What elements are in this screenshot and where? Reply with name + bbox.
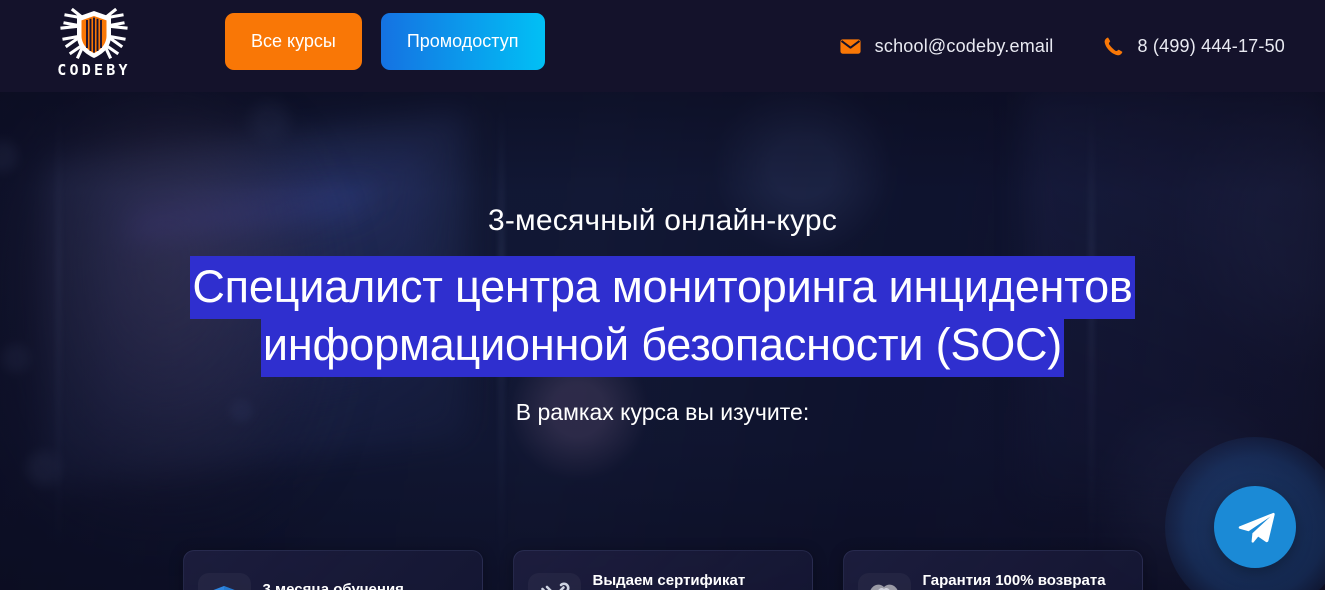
feature-card-text: 3 месяца обучения с видеоуроками и задан… (263, 580, 467, 590)
hero-section: 3-месячный онлайн-курс Специалист центра… (0, 92, 1325, 590)
money-with-wings-icon: $ (858, 573, 911, 590)
spider-shield-logo-icon (59, 6, 129, 62)
hero-content: 3-месячный онлайн-курс Специалист центра… (0, 92, 1325, 590)
hero-subhead: В рамках курса вы изучите: (516, 399, 809, 426)
feature-cards: 3 месяца обучения с видеоуроками и задан… (0, 550, 1325, 590)
feature-card-title: Выдаем сертификат (593, 571, 798, 590)
phone-text: 8 (499) 444-17-50 (1138, 36, 1286, 57)
feature-card-text: Гарантия 100% возврата средств в первые … (923, 571, 1128, 590)
telegram-paper-plane-icon (1236, 510, 1276, 544)
email-text: school@codeby.email (875, 36, 1054, 57)
headline-line-2: информационной безопасности (SOC) (261, 314, 1064, 377)
site-header: CODEBY Все курсы Промодоступ school@code… (0, 0, 1325, 92)
feature-card-title: 3 месяца обучения (263, 580, 467, 590)
headline-line-1: Специалист центра мониторинга инцидентов (190, 256, 1134, 319)
envelope-icon (839, 35, 862, 58)
telegram-chat-button[interactable] (1214, 486, 1296, 568)
header-contacts: school@codeby.email 8 (499) 444-17-50 (839, 0, 1285, 92)
feature-card: 3 месяца обучения с видеоуроками и задан… (183, 550, 483, 590)
page-title: Специалист центра мониторинга инцидентов… (83, 258, 1243, 374)
phone-contact[interactable]: 8 (499) 444-17-50 (1102, 35, 1286, 58)
all-courses-button[interactable]: Все курсы (225, 13, 362, 70)
telegram-fab-wrapper (1165, 437, 1325, 590)
header-nav-buttons: Все курсы Промодоступ (225, 13, 545, 70)
site-logo[interactable]: CODEBY (48, 6, 140, 86)
certificate-scroll-icon (528, 573, 581, 590)
logo-wordmark: CODEBY (57, 63, 130, 78)
hero-eyebrow: 3-месячный онлайн-курс (488, 204, 837, 238)
feature-card-text: Выдаем сертификат после успешной сдачи э… (593, 571, 798, 590)
page-root: CODEBY Все курсы Промодоступ school@code… (0, 0, 1325, 590)
feature-card: Выдаем сертификат после успешной сдачи э… (513, 550, 813, 590)
feature-card: $ Гарантия 100% возврата средств в первы… (843, 550, 1143, 590)
promo-access-button[interactable]: Промодоступ (381, 13, 545, 70)
feature-card-title: Гарантия 100% возврата (923, 571, 1128, 590)
email-contact[interactable]: school@codeby.email (839, 35, 1054, 58)
graduation-cap-icon (198, 573, 251, 590)
phone-icon (1102, 35, 1125, 58)
